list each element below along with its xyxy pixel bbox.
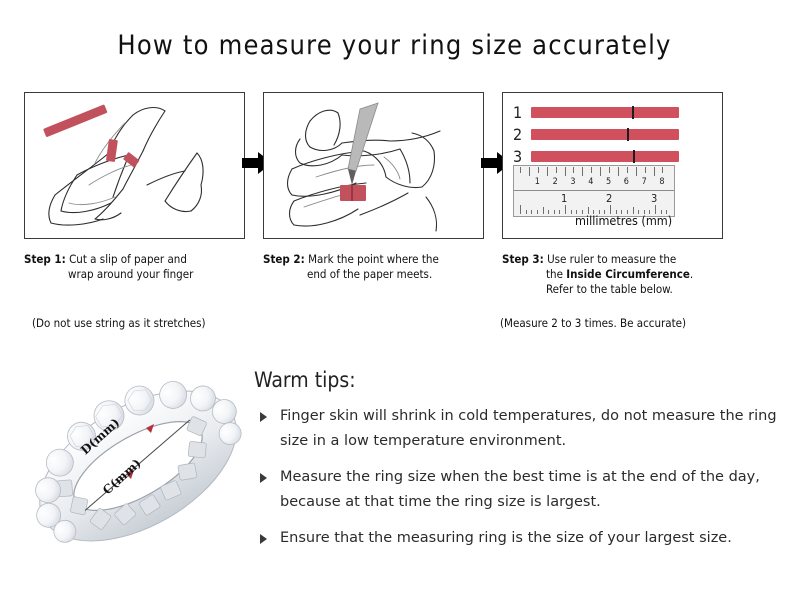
warm-tip-item: Ensure that the measuring ring is the si… xyxy=(258,526,778,551)
step-3-caption: Step 3: Use ruler to measure the the Ins… xyxy=(502,252,752,297)
step-2-line1: Mark the point where the xyxy=(308,252,439,266)
step-1-note: (Do not use string as it stretches) xyxy=(32,316,206,330)
paper-strip xyxy=(531,151,679,162)
page-title: How to measure your ring size accurately xyxy=(0,30,789,61)
step-1-line2: wrap around your finger xyxy=(24,267,254,282)
hands-marking-paper-drawing xyxy=(264,93,483,238)
measured-strip-row: 2 xyxy=(513,125,679,144)
paper-strip xyxy=(531,129,679,140)
ruler: 12345678 123 xyxy=(513,165,675,217)
step-1-illustration-panel xyxy=(24,92,245,239)
step-2-illustration-panel xyxy=(263,92,484,239)
step-1-line1: Cut a slip of paper and xyxy=(69,252,187,266)
step-3-note: (Measure 2 to 3 times. Be accurate) xyxy=(500,316,686,330)
measured-strip-row: 3 xyxy=(513,147,679,166)
inside-circumference-emphasis: Inside Circumference xyxy=(566,267,690,281)
strip-number: 2 xyxy=(513,125,531,144)
triangle-bullet-icon xyxy=(260,412,267,422)
measured-strip-row: 1 xyxy=(513,103,679,122)
step-2-caption: Step 2: Mark the point where the end of … xyxy=(263,252,493,282)
strip-number: 3 xyxy=(513,147,531,166)
step-3-ruler-panel: 1 2 3 12345678 123 millimetres (mm) xyxy=(502,92,723,239)
warm-tip-item: Finger skin will shrink in cold temperat… xyxy=(258,404,778,454)
strip-mark-tick xyxy=(627,128,629,141)
strip-number: 1 xyxy=(513,103,531,122)
warm-tip-text: Ensure that the measuring ring is the si… xyxy=(280,530,732,546)
ruler-unit-label: millimetres (mm) xyxy=(575,213,672,228)
triangle-bullet-icon xyxy=(260,473,267,483)
paper-strip xyxy=(531,107,679,118)
strip-mark-tick xyxy=(633,150,635,163)
step-3-line2-pre: the xyxy=(546,267,566,281)
step-1-label: Step 1: xyxy=(24,252,66,266)
warm-tips-list: Finger skin will shrink in cold temperat… xyxy=(258,404,778,562)
step-3-label: Step 3: xyxy=(502,252,544,266)
step-2-label: Step 2: xyxy=(263,252,305,266)
hand-with-paper-strip-drawing xyxy=(25,93,244,238)
step-3-line3: Refer to the table below. xyxy=(502,282,752,297)
ring-size-guide-page: How to measure your ring size accurately xyxy=(0,0,789,606)
warm-tip-item: Measure the ring size when the best time… xyxy=(258,465,778,515)
step-3-line2-post: . xyxy=(690,267,693,281)
step-3-line2: the Inside Circumference. xyxy=(502,267,752,282)
step-2-line2: end of the paper meets. xyxy=(263,267,493,282)
step-3-line1: Use ruler to measure the xyxy=(547,252,676,266)
step-1-caption: Step 1: Cut a slip of paper and wrap aro… xyxy=(24,252,254,282)
triangle-bullet-icon xyxy=(260,534,267,544)
warm-tip-text: Measure the ring size when the best time… xyxy=(280,469,760,510)
strip-mark-tick xyxy=(632,106,634,119)
warm-tips-heading: Warm tips: xyxy=(254,368,356,392)
warm-tip-text: Finger skin will shrink in cold temperat… xyxy=(280,408,777,449)
